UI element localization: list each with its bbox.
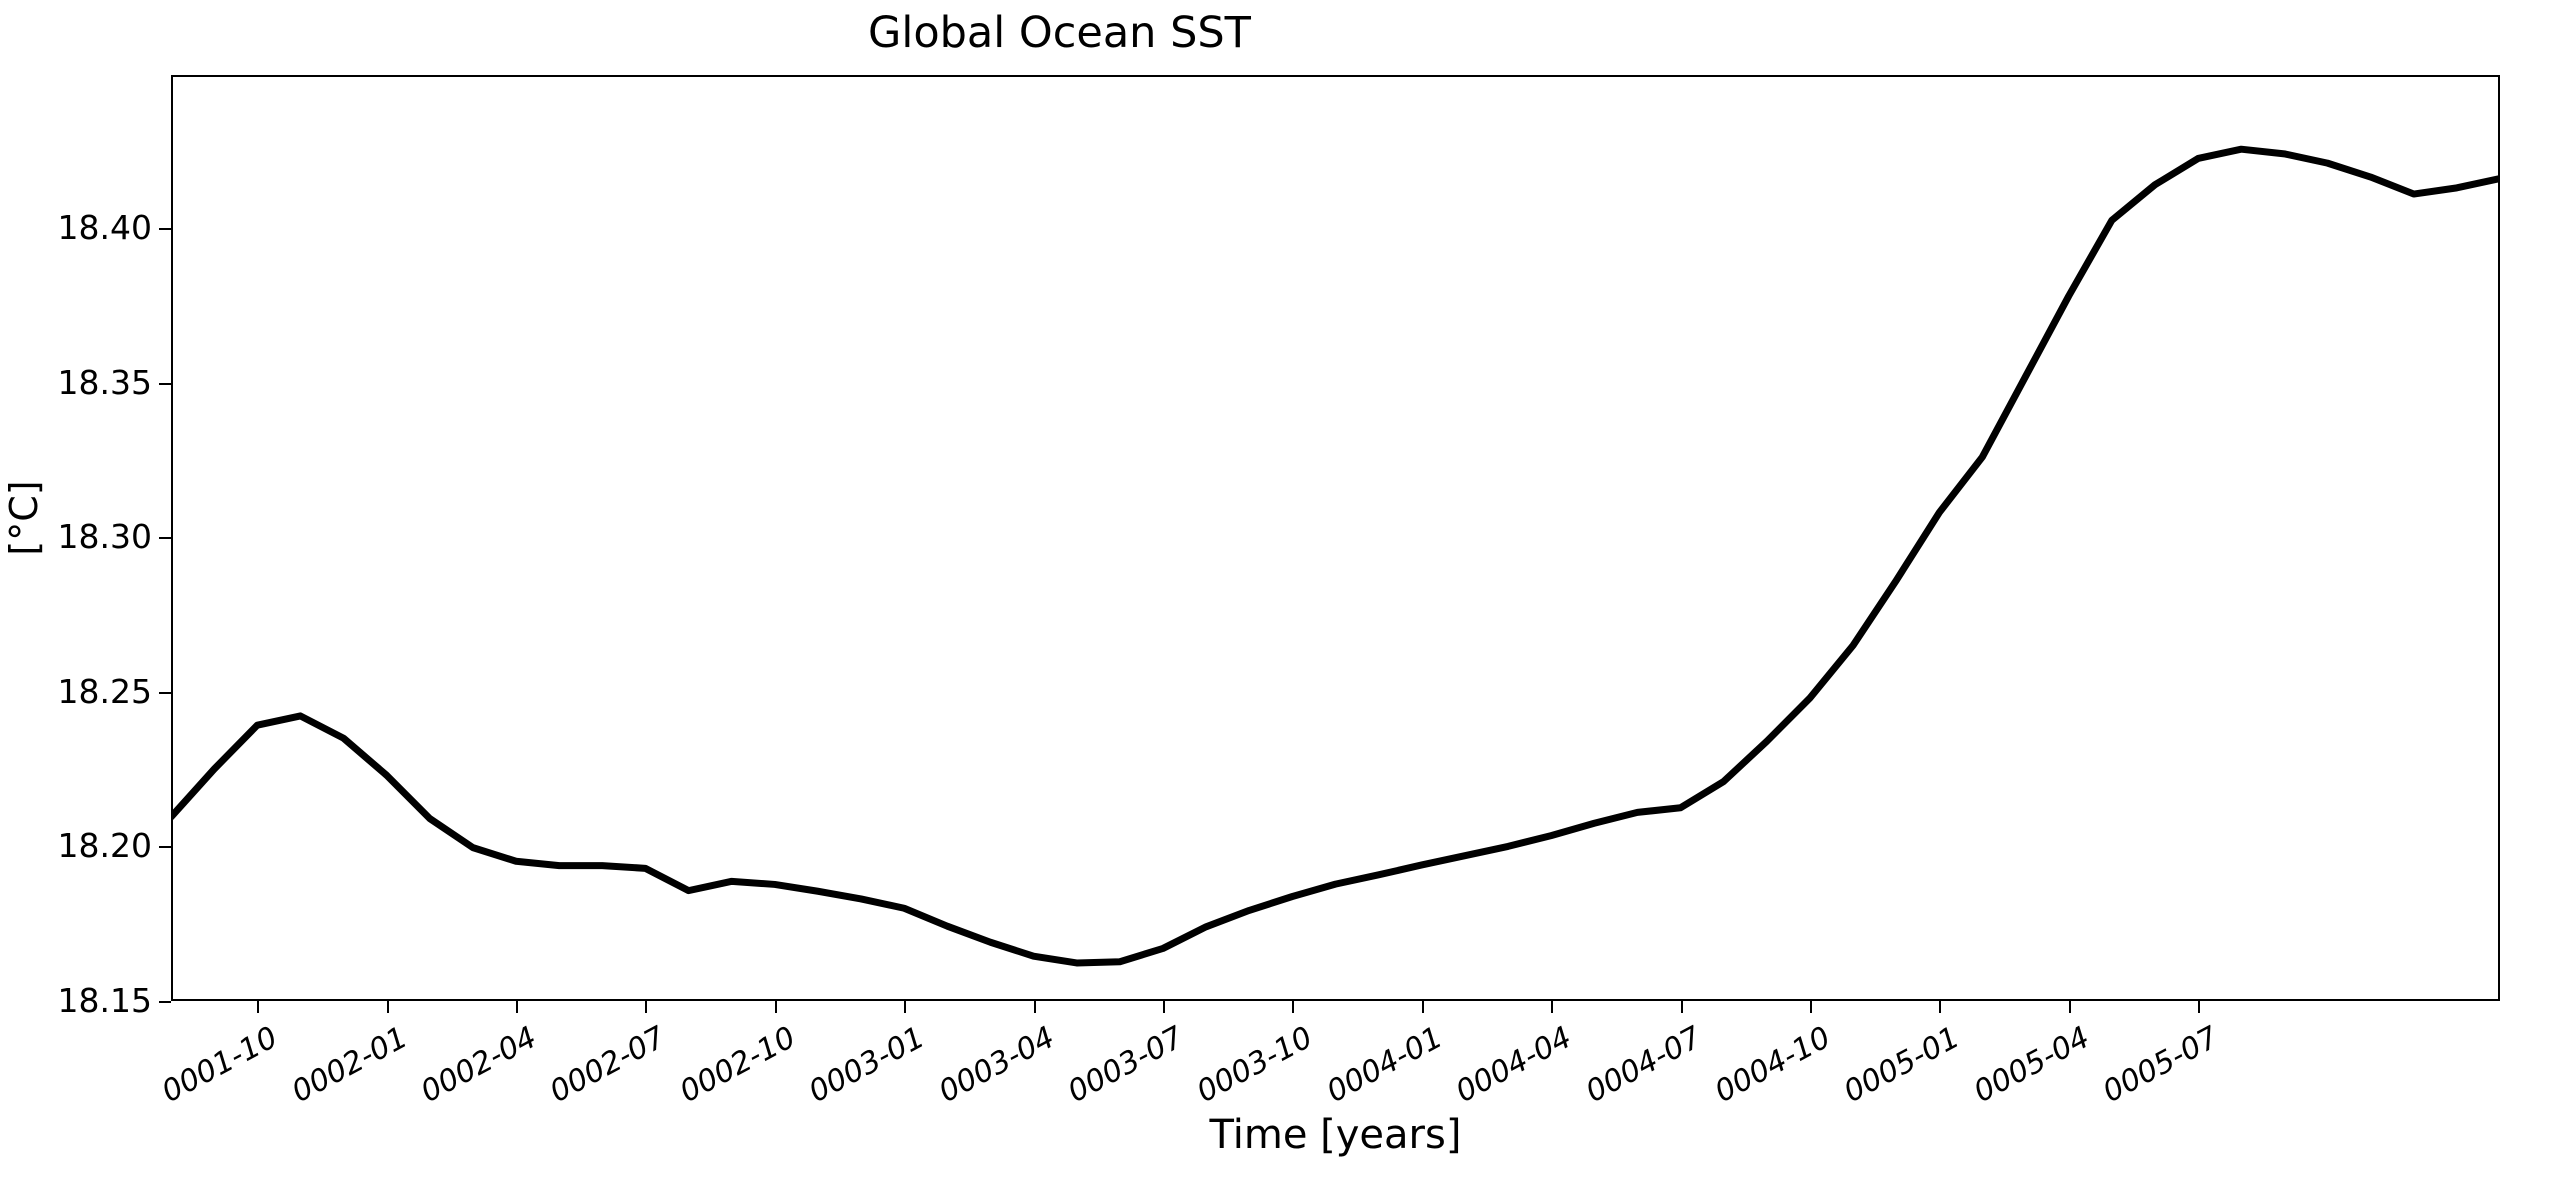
- x-axis-tick-label: 0002-10: [644, 1020, 802, 1126]
- chart-figure: Global Ocean SST 18.1518.2018.2518.3018.…: [0, 0, 2551, 1178]
- chart-title-text: Global Ocean SST: [868, 8, 1251, 58]
- x-axis-tick-mark: [257, 1001, 259, 1013]
- x-axis-tick-label: 0003-01: [773, 1020, 931, 1126]
- x-axis-tick-label: 0005-04: [1937, 1020, 2095, 1126]
- y-axis-tick-mark: [159, 1001, 171, 1003]
- chart-title: Global Ocean SST: [0, 2, 2551, 64]
- y-axis-tick-label: 18.30: [58, 520, 152, 553]
- x-axis-label: Time [years]: [171, 1112, 2500, 1158]
- x-axis-tick-label: 0003-10: [1161, 1020, 1319, 1126]
- x-axis-tick-label: 0004-10: [1679, 1020, 1837, 1126]
- x-axis-tick-mark: [2198, 1001, 2200, 1013]
- x-axis-tick-mark: [1163, 1001, 1165, 1013]
- x-axis-tick-label: 0002-04: [385, 1020, 543, 1126]
- x-axis-tick-label: 0004-04: [1420, 1020, 1578, 1126]
- y-axis-tick-mark: [159, 846, 171, 848]
- x-axis-tick-label: 0003-07: [1032, 1020, 1190, 1126]
- y-axis-tick-mark: [159, 537, 171, 539]
- y-axis-label: [°C]: [2, 438, 46, 598]
- x-axis-tick-mark: [1681, 1001, 1683, 1013]
- x-axis-tick-mark: [1292, 1001, 1294, 1013]
- y-axis-tick-mark: [159, 383, 171, 385]
- y-axis-tick-mark: [159, 692, 171, 694]
- x-axis-tick-mark: [645, 1001, 647, 1013]
- x-axis-tick-label: 0004-01: [1290, 1020, 1448, 1126]
- x-axis-tick-mark: [1939, 1001, 1941, 1013]
- x-axis-tick-mark: [1422, 1001, 1424, 1013]
- x-axis-tick-label: 0003-04: [902, 1020, 1060, 1126]
- x-axis-tick-label: 0005-01: [1808, 1020, 1966, 1126]
- x-axis-tick-mark: [904, 1001, 906, 1013]
- x-axis-tick-label: 0002-07: [514, 1020, 672, 1126]
- x-axis-tick-label: 0002-01: [255, 1020, 413, 1126]
- x-axis-tick-label: 0005-07: [2067, 1020, 2225, 1126]
- x-axis-tick-mark: [387, 1001, 389, 1013]
- x-axis-tick-mark: [1810, 1001, 1812, 1013]
- x-axis-tick-label: 0004-07: [1549, 1020, 1707, 1126]
- y-axis-tick-label: 18.40: [58, 211, 152, 244]
- sst-line-series: [171, 149, 2500, 963]
- y-axis-tick-mark: [159, 228, 171, 230]
- x-axis-tick-mark: [2069, 1001, 2071, 1013]
- y-axis-tick-label: 18.15: [58, 984, 152, 1017]
- y-axis-tick-label: 18.25: [58, 675, 152, 708]
- x-axis-tick-mark: [516, 1001, 518, 1013]
- line-series-svg: [171, 75, 2500, 1001]
- x-axis-tick-mark: [1034, 1001, 1036, 1013]
- x-axis-tick-mark: [1551, 1001, 1553, 1013]
- y-axis-tick-label: 18.35: [58, 366, 152, 399]
- x-axis-tick-mark: [775, 1001, 777, 1013]
- y-axis-tick-label: 18.20: [58, 829, 152, 862]
